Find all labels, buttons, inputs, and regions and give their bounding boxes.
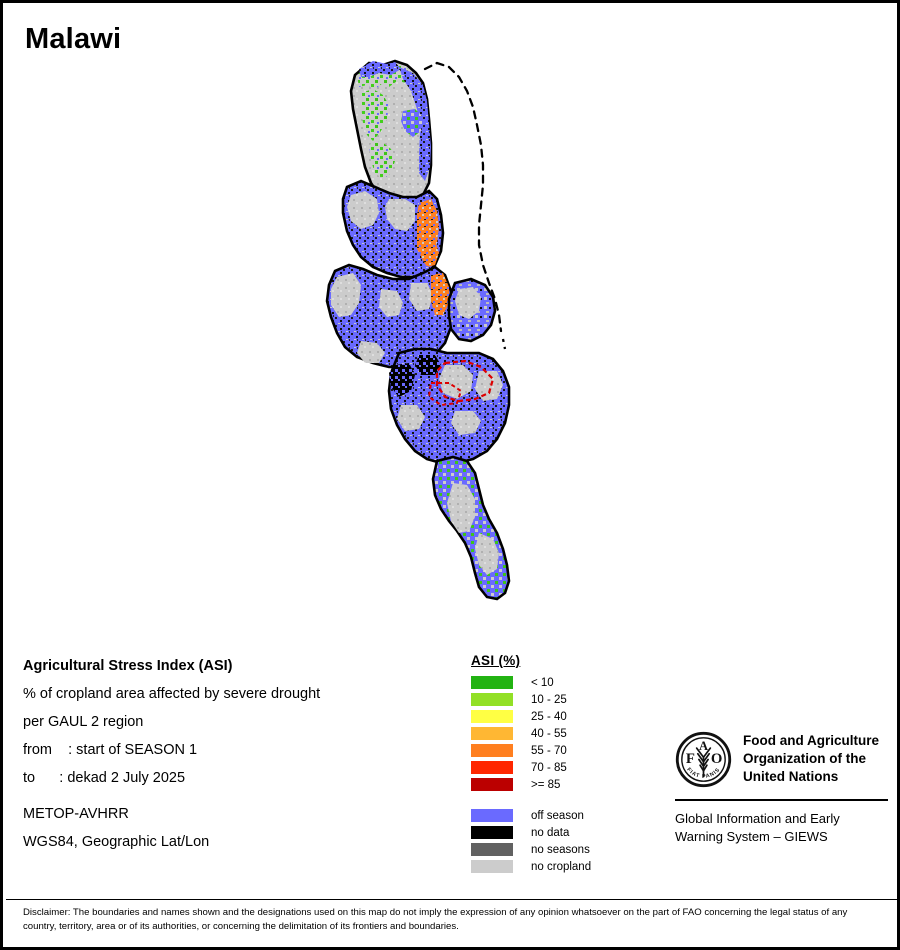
legend-swatch bbox=[471, 778, 513, 791]
period-to: to : dekad 2 July 2025 bbox=[23, 770, 453, 786]
legend-item-lt10[interactable]: < 10 bbox=[471, 674, 661, 691]
legend-label: >= 85 bbox=[531, 779, 560, 791]
fao-logo-icon: F O A FIAT PANIS bbox=[675, 731, 732, 788]
legend-swatch bbox=[471, 744, 513, 757]
legend-label: off season bbox=[531, 810, 584, 822]
legend-title: ASI (%) bbox=[471, 653, 661, 668]
legend-label: 10 - 25 bbox=[531, 694, 567, 706]
malawi-map-svg bbox=[303, 53, 623, 633]
legend-item-10-25[interactable]: 10 - 25 bbox=[471, 691, 661, 708]
legend-swatch bbox=[471, 761, 513, 774]
fao-divider bbox=[675, 799, 888, 801]
giews-line1: Global Information and Early bbox=[675, 810, 890, 828]
fao-org-name: Food and Agriculture Organization of the… bbox=[743, 731, 879, 785]
map-legend: ASI (%) < 10 10 - 25 25 - 40 40 - 55 55 … bbox=[471, 653, 661, 875]
fao-org-line2: Organization of the bbox=[743, 750, 879, 768]
legend-swatch bbox=[471, 693, 513, 706]
map-region-south bbox=[389, 349, 509, 463]
legend-label: no seasons bbox=[531, 844, 590, 856]
sensor-label: METOP-AVHRR bbox=[23, 806, 453, 822]
legend-label: 70 - 85 bbox=[531, 762, 567, 774]
legend-swatch bbox=[471, 860, 513, 873]
map-page: Malawi bbox=[0, 0, 900, 950]
legend-label: 25 - 40 bbox=[531, 711, 567, 723]
legend-spacer bbox=[471, 793, 661, 807]
page-title: Malawi bbox=[25, 23, 121, 56]
asi-region: per GAUL 2 region bbox=[23, 714, 453, 730]
projection-label: WGS84, Geographic Lat/Lon bbox=[23, 834, 453, 850]
map-canvas[interactable] bbox=[303, 53, 623, 633]
fao-branding: F O A FIAT PANIS Food and Agriculture Or… bbox=[675, 731, 890, 845]
disclaimer-divider bbox=[6, 899, 900, 900]
info-block: Agricultural Stress Index (ASI) % of cro… bbox=[23, 658, 453, 850]
legend-item-no-cropland[interactable]: no cropland bbox=[471, 858, 661, 875]
disclaimer-text: Disclaimer: The boundaries and names sho… bbox=[23, 906, 883, 933]
legend-item-25-40[interactable]: 25 - 40 bbox=[471, 708, 661, 725]
legend-label: 55 - 70 bbox=[531, 745, 567, 757]
map-region-mid-north bbox=[343, 181, 443, 277]
fao-org-line1: Food and Agriculture bbox=[743, 732, 879, 750]
legend-item-no-data[interactable]: no data bbox=[471, 824, 661, 841]
asi-heading: Agricultural Stress Index (ASI) bbox=[23, 658, 453, 674]
legend-item-gte85[interactable]: >= 85 bbox=[471, 776, 661, 793]
legend-swatch bbox=[471, 843, 513, 856]
period-from: from : start of SEASON 1 bbox=[23, 742, 453, 758]
legend-item-off-season[interactable]: off season bbox=[471, 807, 661, 824]
fao-logo-f: F bbox=[686, 751, 695, 767]
asi-subtitle: % of cropland area affected by severe dr… bbox=[23, 686, 453, 702]
legend-label: no data bbox=[531, 827, 569, 839]
giews-line2: Warning System – GIEWS bbox=[675, 828, 890, 846]
fao-logo-a: A bbox=[699, 739, 708, 753]
giews-name: Global Information and Early Warning Sys… bbox=[675, 810, 890, 845]
legend-item-no-seasons[interactable]: no seasons bbox=[471, 841, 661, 858]
map-region-lake-peninsula bbox=[449, 279, 495, 341]
legend-label: 40 - 55 bbox=[531, 728, 567, 740]
legend-label: < 10 bbox=[531, 677, 554, 689]
legend-item-70-85[interactable]: 70 - 85 bbox=[471, 759, 661, 776]
map-region-south-tip bbox=[433, 457, 509, 599]
legend-swatch bbox=[471, 809, 513, 822]
legend-swatch bbox=[471, 727, 513, 740]
legend-swatch bbox=[471, 710, 513, 723]
legend-item-55-70[interactable]: 55 - 70 bbox=[471, 742, 661, 759]
fao-logo-o: O bbox=[711, 751, 723, 767]
legend-label: no cropland bbox=[531, 861, 591, 873]
legend-item-40-55[interactable]: 40 - 55 bbox=[471, 725, 661, 742]
fao-org-line3: United Nations bbox=[743, 768, 879, 786]
legend-swatch bbox=[471, 676, 513, 689]
legend-swatch bbox=[471, 826, 513, 839]
